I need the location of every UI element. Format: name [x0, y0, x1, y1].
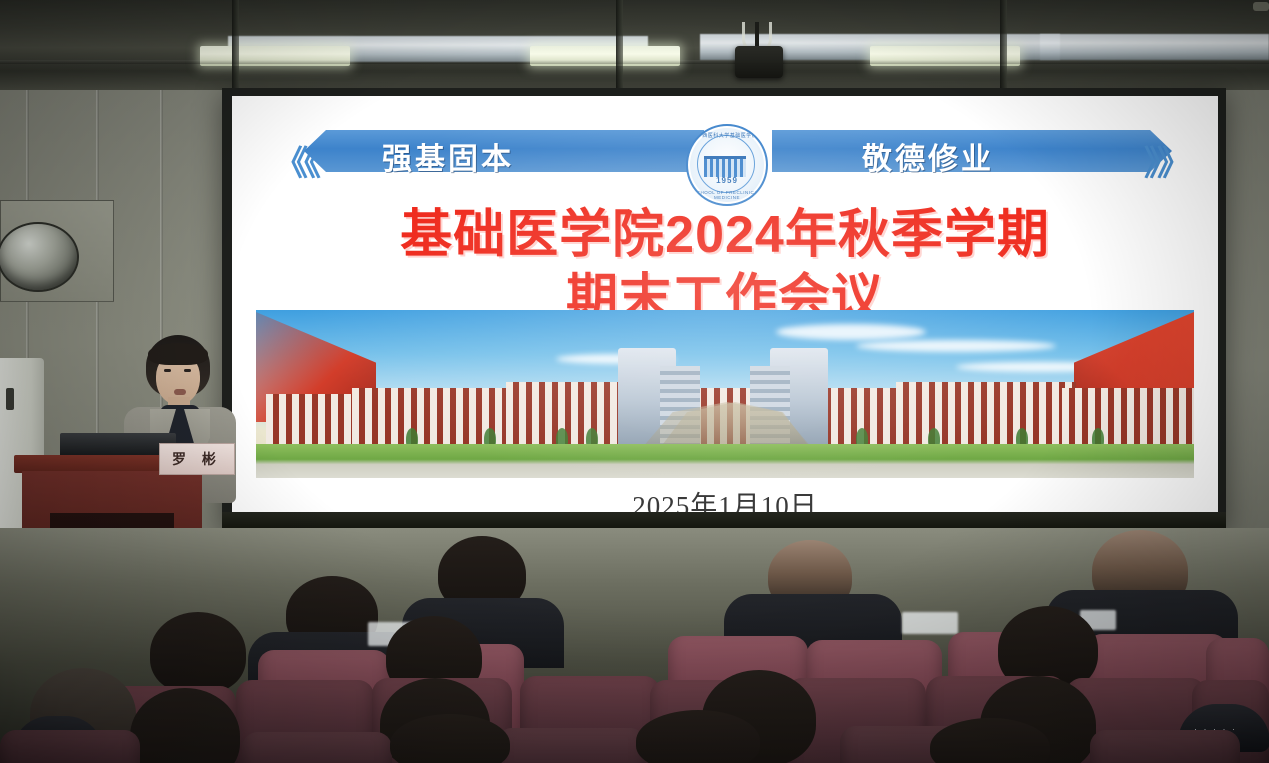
chevron-left-icon: 《《	[274, 136, 317, 185]
nameplate-text: 罗 彬	[172, 449, 222, 469]
emblem-arc-top-text: 广西医科大学基础医学院	[688, 132, 766, 139]
screen-bottom-frame	[222, 512, 1226, 528]
right-wall-panel	[1222, 90, 1269, 550]
podium-nameplate: 罗 彬	[159, 443, 235, 475]
chevron-right-icon: 》》	[1144, 136, 1187, 185]
audience-area: · · · · ·	[0, 528, 1269, 763]
banner-slogan-right: 敬德修业	[862, 134, 994, 178]
campus-panorama-photo	[256, 310, 1194, 478]
slide-banner: 《《 强基固本 广西医科大学基础医学院 1959 SCHOOL OF PRECL…	[232, 120, 1218, 184]
projection-screen: 《《 强基固本 广西医科大学基础医学院 1959 SCHOOL OF PRECL…	[232, 96, 1218, 520]
emblem-building-icon	[704, 156, 746, 177]
cabinet-handle[interactable]	[6, 388, 14, 410]
ceiling-projector	[735, 46, 783, 78]
emblem-year: 1959	[688, 176, 766, 185]
smoke-detector-icon	[1253, 2, 1269, 11]
banner-slogan-left: 强基固本	[382, 134, 514, 178]
ceiling	[0, 0, 1269, 96]
convex-dome-mirror-icon	[0, 222, 79, 292]
conference-room-photo: 《《 强基固本 广西医科大学基础医学院 1959 SCHOOL OF PRECL…	[0, 0, 1269, 763]
